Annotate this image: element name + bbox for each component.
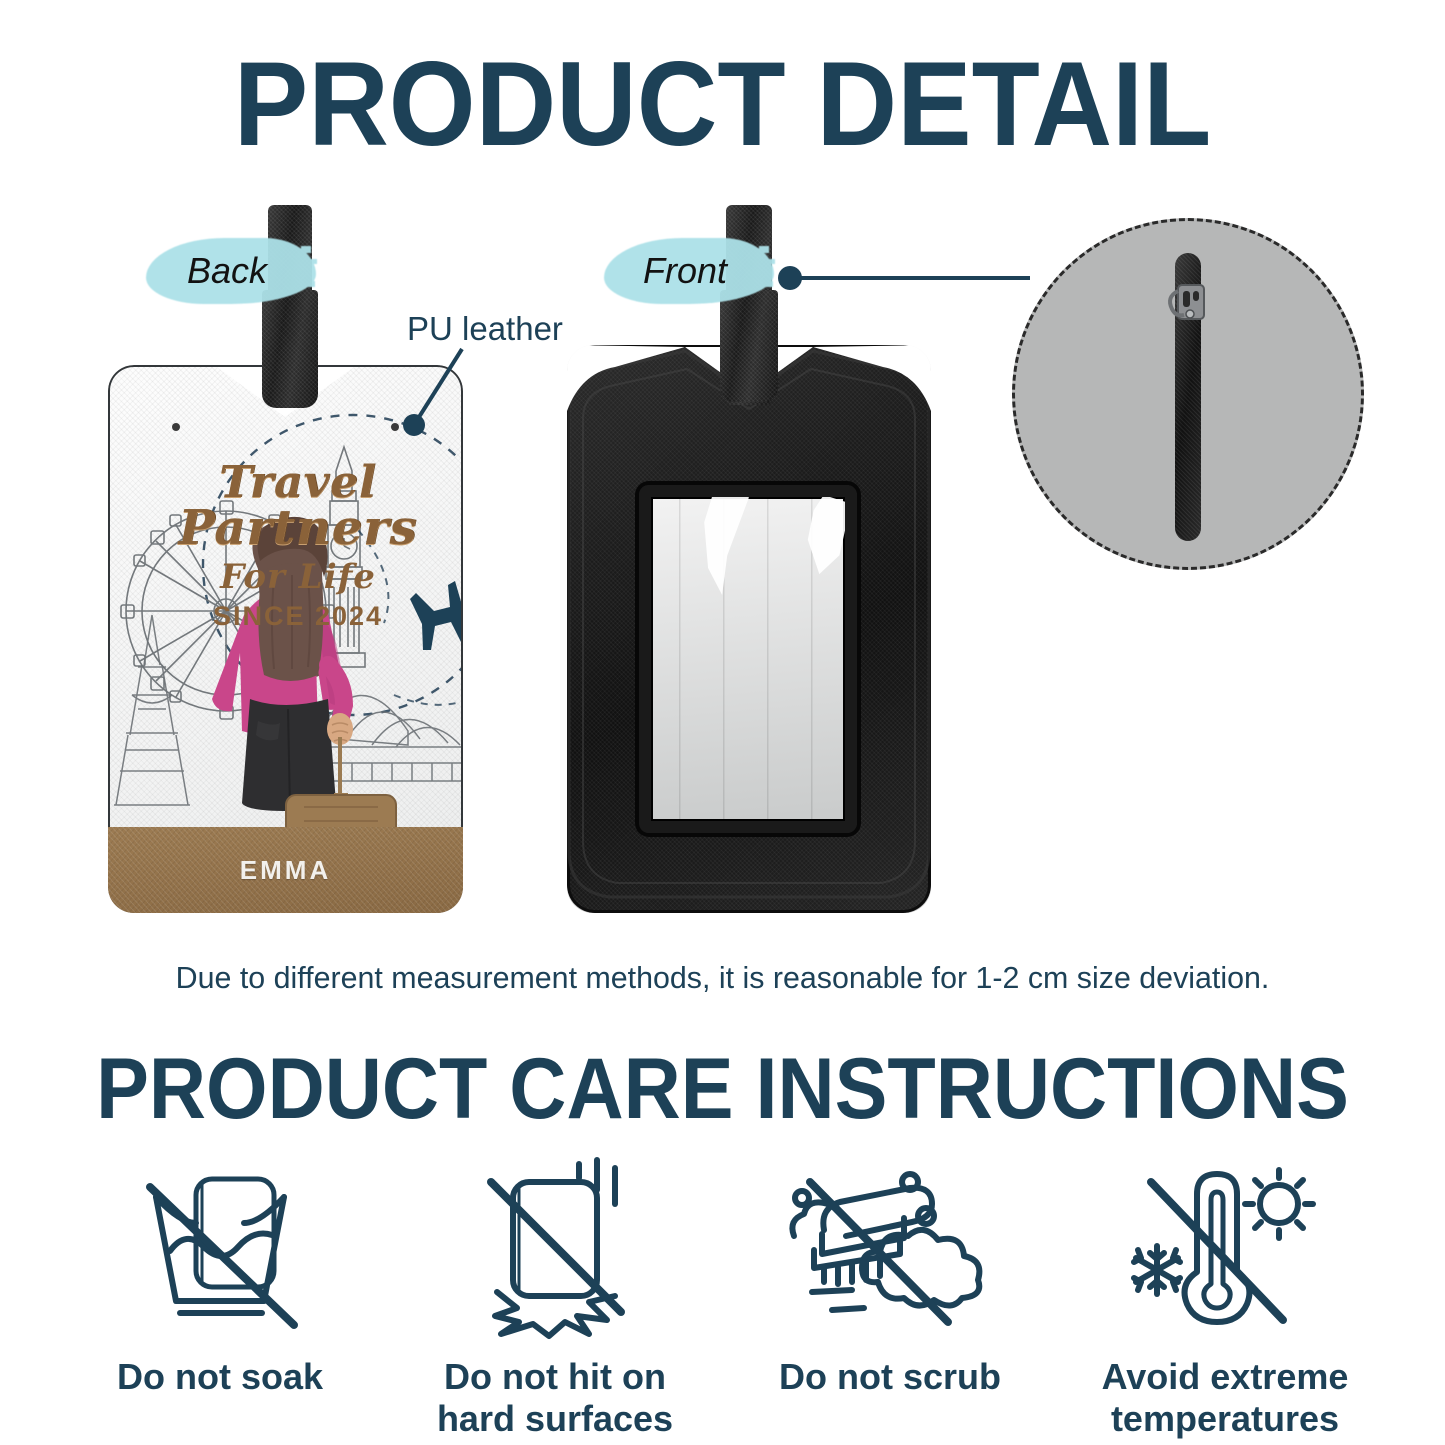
callout-anchor-dot-pu-leather (403, 414, 425, 436)
luggage-tag-back: Travel Partners For Life SINCE 2024 EMMA (108, 365, 463, 913)
care-instructions-title: PRODUCT CARE INSTRUCTIONS (58, 1046, 1387, 1132)
badge-front-label: Front (604, 238, 774, 304)
back-tag-strap-fold (262, 290, 318, 408)
size-deviation-note: Due to different measurement methods, it… (14, 958, 1430, 998)
care-item-label: Do not hit on hard surfaces (437, 1356, 673, 1440)
care-item-label: Do not soak (117, 1356, 323, 1398)
magnifier-detail-circle (1012, 218, 1364, 570)
personalized-name-plate: EMMA (108, 827, 463, 913)
callout-label-pu-leather: PU leather (407, 310, 563, 348)
badge-back-label: Back (146, 238, 316, 304)
no-extreme-temperature-icon (1123, 1150, 1327, 1350)
window-glare-highlight (779, 495, 851, 581)
care-item-do-not-scrub: Do not scrub (730, 1150, 1050, 1440)
front-tag-id-window (639, 485, 857, 833)
badge-front-view: Front (604, 238, 774, 304)
product-detail-page: PRODUCT DETAIL Back (0, 0, 1445, 1445)
tag-script-line-4: SINCE 2024 (148, 601, 448, 632)
badge-back-view: Back (146, 238, 316, 304)
personalized-name: EMMA (240, 855, 331, 886)
tag-script-line-3: For Life (148, 557, 448, 597)
magnifier-connector-line (790, 276, 1030, 280)
page-title: PRODUCT DETAIL (51, 44, 1395, 164)
care-item-do-not-hit: Do not hit on hard surfaces (395, 1150, 715, 1440)
care-item-do-not-soak: Do not soak (60, 1150, 380, 1440)
no-soak-icon (122, 1150, 318, 1350)
magnifier-anchor-dot (778, 266, 802, 290)
luggage-tag-front (567, 345, 931, 913)
front-tag-strap-fold (720, 290, 778, 402)
window-glare-highlight (685, 491, 749, 595)
no-scrub-icon (784, 1150, 996, 1350)
buckle-icon (1166, 281, 1210, 327)
care-item-label: Avoid extreme temperatures (1102, 1356, 1349, 1440)
care-instructions-row: Do not soak Do not hit on hard surfaces (0, 1150, 1445, 1440)
tag-script-line-2: Partners (148, 500, 448, 556)
care-item-avoid-extreme-temperatures: Avoid extreme temperatures (1065, 1150, 1385, 1440)
care-item-label: Do not scrub (779, 1356, 1001, 1398)
no-hit-hard-surface-icon (457, 1150, 653, 1350)
